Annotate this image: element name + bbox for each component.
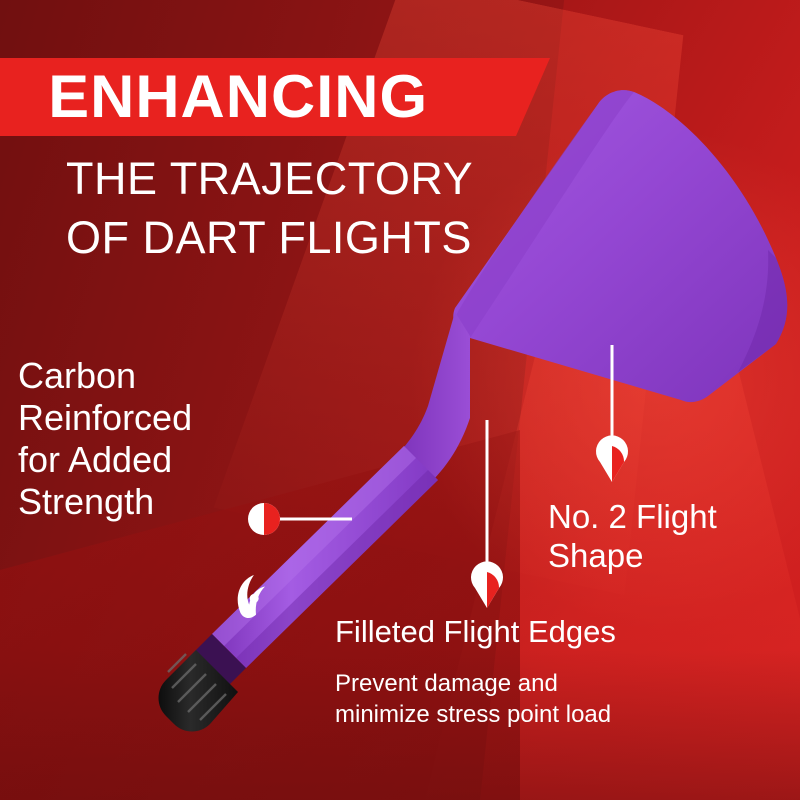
callout-flight-shape: No. 2 Flight Shape bbox=[548, 498, 717, 575]
headline-banner: ENHANCING bbox=[0, 58, 550, 136]
callout-filleted-edges-title: Filleted Flight Edges bbox=[335, 614, 616, 650]
callout-carbon-reinforced: Carbon Reinforced for Added Strength bbox=[18, 355, 192, 523]
callout-filleted-edges-subtitle: Prevent damage and minimize stress point… bbox=[335, 668, 611, 730]
headline-subtitle: THE TRAJECTORY OF DART FLIGHTS bbox=[66, 150, 473, 267]
infographic-canvas: ENHANCING THE TRAJECTORY OF DART FLIGHTS bbox=[0, 0, 800, 800]
headline-banner-text: ENHANCING bbox=[48, 67, 428, 127]
